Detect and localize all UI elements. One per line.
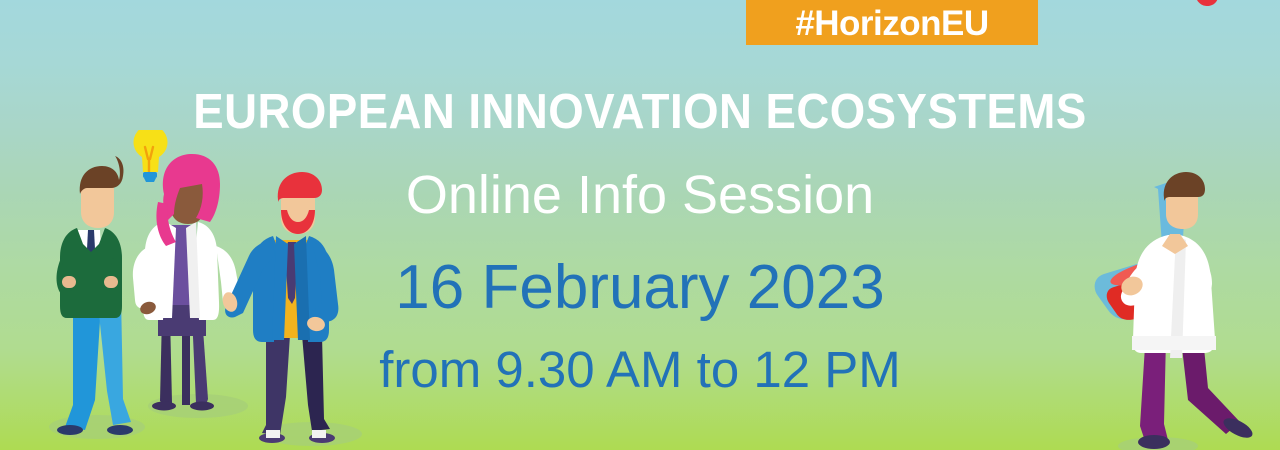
figure-pink-hair-scientist [133, 154, 246, 411]
lightbulb-icon [134, 130, 168, 182]
figure-green-blazer [57, 156, 134, 435]
illustration-scientist-with-flask [1080, 150, 1280, 450]
event-banner: #HorizonEU EUROPEAN INNOVATION ECOSYSTEM… [0, 0, 1280, 450]
hashtag-label: #HorizonEU [795, 6, 988, 41]
illustration-three-people [40, 130, 370, 450]
red-accent-shape [1195, 0, 1220, 7]
hashtag-badge: #HorizonEU [746, 0, 1038, 45]
figure-scientist [1118, 172, 1255, 449]
